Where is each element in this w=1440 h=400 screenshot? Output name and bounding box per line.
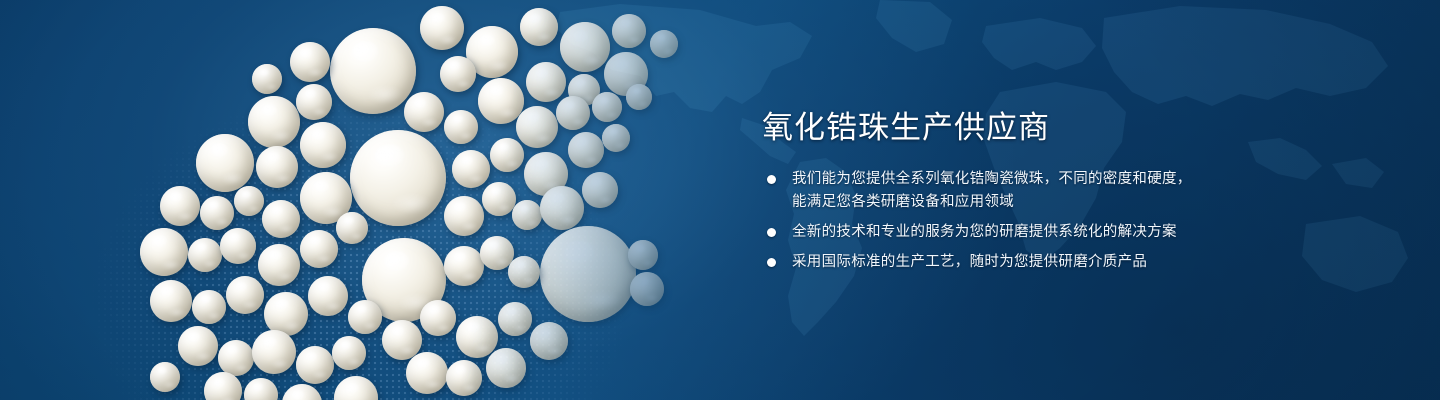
hero-banner: 氧化锆珠生产供应商 我们能为您提供全系列氧化锆陶瓷微珠，不同的密度和硬度， 能满… xyxy=(0,0,1440,400)
list-item: 全新的技术和专业的服务为您的研磨提供系统化的解决方案 xyxy=(760,221,1280,244)
zirconia-beads-image xyxy=(0,0,780,400)
list-item-line2: 能满足您各类研磨设备和应用领域 xyxy=(792,191,1280,214)
list-item: 我们能为您提供全系列氧化锆陶瓷微珠，不同的密度和硬度， 能满足您各类研磨设备和应… xyxy=(760,168,1280,214)
feature-list: 我们能为您提供全系列氧化锆陶瓷微珠，不同的密度和硬度， 能满足您各类研磨设备和应… xyxy=(760,168,1280,281)
banner-content: 氧化锆珠生产供应商 我们能为您提供全系列氧化锆陶瓷微珠，不同的密度和硬度， 能满… xyxy=(760,0,1380,400)
list-item-line1: 我们能为您提供全系列氧化锆陶瓷微珠，不同的密度和硬度， xyxy=(792,168,1280,191)
page-title: 氧化锆珠生产供应商 xyxy=(762,108,1050,148)
halftone-texture xyxy=(60,0,820,400)
bullet-dot-icon xyxy=(767,175,776,184)
list-item-line1: 采用国际标准的生产工艺，随时为您提供研磨介质产品 xyxy=(792,251,1280,274)
list-item-line1: 全新的技术和专业的服务为您的研磨提供系统化的解决方案 xyxy=(792,221,1280,244)
bullet-dot-icon xyxy=(767,228,776,237)
list-item: 采用国际标准的生产工艺，随时为您提供研磨介质产品 xyxy=(760,251,1280,274)
bullet-dot-icon xyxy=(767,258,776,267)
